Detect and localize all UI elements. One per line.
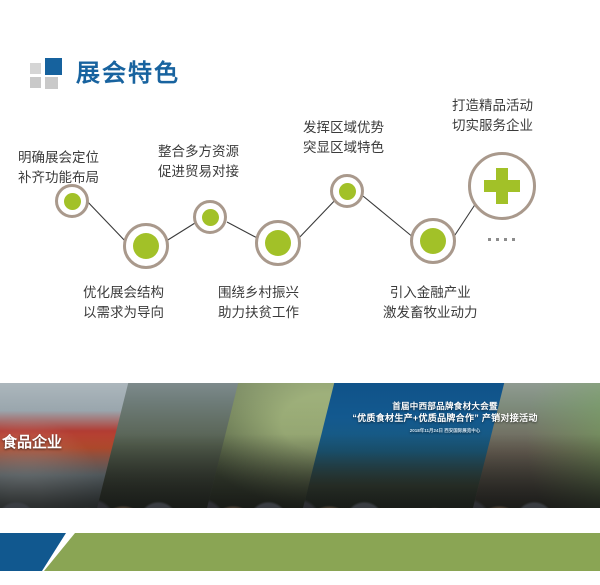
- more-dots-icon: [488, 238, 515, 241]
- node-label-2-line2: 以需求为导向: [83, 303, 164, 323]
- node-label-7-line2: 切实服务企业: [452, 116, 533, 136]
- dot-4: [512, 238, 515, 241]
- node-label-4-line2: 助力扶贫工作: [218, 303, 299, 323]
- node-label-6: 引入金融产业 激发畜牧业动力: [383, 283, 478, 322]
- diagram-node-6[interactable]: [410, 218, 456, 264]
- node-label-3-line2: 促进贸易对接: [158, 162, 239, 182]
- node-core-5: [339, 183, 356, 200]
- dot-1: [488, 238, 491, 241]
- footer-green-bar: [44, 533, 600, 571]
- node-label-2-line1: 优化展会结构: [83, 283, 164, 303]
- diagram-node-2[interactable]: [123, 223, 169, 269]
- booth-caption-text: 食品企业: [2, 431, 152, 452]
- section-title-text: 展会特色: [76, 62, 180, 86]
- node-core-6: [420, 228, 446, 254]
- page-title: 展会特色: [30, 58, 180, 90]
- diagram-node-5[interactable]: [330, 174, 364, 208]
- connector-4-5: [297, 196, 339, 240]
- node-core-2: [133, 233, 159, 259]
- node-label-7: 打造精品活动 切实服务企业: [452, 96, 533, 135]
- node-label-7-line1: 打造精品活动: [452, 96, 533, 116]
- node-label-4: 围绕乡村振兴 助力扶贫工作: [218, 283, 299, 322]
- connector-1-2: [84, 198, 127, 243]
- diagram-node-4[interactable]: [255, 220, 301, 266]
- node-label-5-line2: 突显区域特色: [303, 138, 384, 158]
- zigzag-diagram: 明确展会定位 补齐功能布局 优化展会结构 以需求为导向 整合多方资源 促进贸易对…: [0, 90, 600, 360]
- square-top-left: [30, 63, 41, 74]
- node-label-5: 发挥区域优势 突显区域特色: [303, 118, 384, 157]
- diagram-node-3[interactable]: [193, 200, 227, 234]
- dot-2: [496, 238, 499, 241]
- node-label-3: 整合多方资源 促进贸易对接: [158, 142, 239, 181]
- four-squares-icon: [30, 58, 64, 90]
- square-bottom-left: [30, 77, 41, 88]
- node-label-6-line2: 激发畜牧业动力: [383, 303, 478, 323]
- footer-bars: [0, 533, 600, 571]
- dot-3: [504, 238, 507, 241]
- diagram-node-1[interactable]: [55, 184, 89, 218]
- plus-icon-bar-vertical: [496, 168, 508, 204]
- node-label-1: 明确展会定位 补齐功能布局: [18, 148, 99, 187]
- square-bottom-right: [45, 77, 58, 89]
- connector-5-6: [363, 196, 414, 238]
- node-label-1-line1: 明确展会定位: [18, 148, 99, 168]
- node-label-5-line1: 发挥区域优势: [303, 118, 384, 138]
- node-label-4-line1: 围绕乡村振兴: [218, 283, 299, 303]
- node-core-1: [64, 193, 81, 210]
- node-core-3: [202, 209, 219, 226]
- square-top-right-accent: [45, 58, 62, 75]
- node-label-2: 优化展会结构 以需求为导向: [83, 283, 164, 322]
- node-label-6-line1: 引入金融产业: [383, 283, 478, 303]
- node-label-1-line2: 补齐功能布局: [18, 168, 99, 188]
- plus-icon: [484, 168, 520, 204]
- node-label-3-line1: 整合多方资源: [158, 142, 239, 162]
- node-core-4: [265, 230, 291, 256]
- diagram-node-add[interactable]: [468, 152, 536, 220]
- photo-collage-band: 食品企业 首届中西部品牌食材大会暨 “优质食材生产+优质品牌合作” 产销对接活动…: [0, 383, 600, 508]
